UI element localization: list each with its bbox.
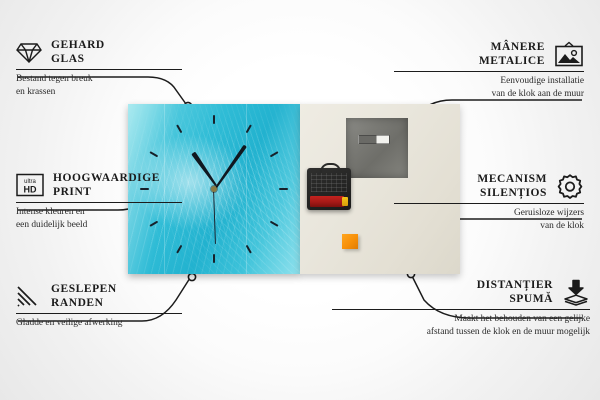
clock-tick	[270, 221, 279, 227]
clock-tick	[149, 151, 158, 157]
callout-title: MÂNERE METALICE	[479, 40, 545, 68]
clock-tick	[270, 151, 279, 157]
callout-rule	[16, 69, 182, 70]
callout-rule	[394, 203, 584, 204]
battery	[310, 196, 344, 207]
callout-gehard-glas: GEHARD GLAS Bestand tegen breuk en krass…	[16, 38, 184, 98]
callout-subtitle: Eenvoudige installatie van de klok aan d…	[394, 75, 584, 100]
callout-rule	[16, 202, 182, 203]
callout-title: MECANISM SILENȚIOS	[477, 172, 547, 200]
clock-tick	[246, 124, 252, 133]
clock-tick	[279, 188, 288, 190]
clock-mechanism	[307, 168, 351, 210]
callout-geslepen-randen: GESLEPEN RANDEN Gladde en veilige afwerk…	[16, 282, 184, 330]
gear-icon	[556, 173, 584, 200]
callout-manere-metalice: MÂNERE METALICE Eenvoudige installatie v…	[394, 40, 584, 100]
callout-header: GEHARD GLAS	[16, 38, 184, 66]
clock-tick	[246, 245, 252, 254]
clock-center-cap	[211, 186, 217, 192]
callout-subtitle: Gladde en veilige afwerking	[16, 317, 184, 330]
clock-tick	[213, 115, 215, 124]
diamond-icon	[16, 40, 42, 64]
endpoint-geslepen-randen	[188, 273, 195, 280]
foam-spacer-icon	[562, 279, 590, 306]
callout-distantier-spuma: DISTANȚIER SPUMĂ Maakt het behouden van …	[332, 278, 590, 338]
clock-tick	[176, 124, 182, 133]
callout-header: ultra HD HOOGWAARDIGE PRINT	[16, 171, 184, 199]
callout-rule	[332, 309, 590, 310]
callout-header: MECANISM SILENȚIOS	[394, 172, 584, 200]
callout-subtitle: Bestand tegen breuk en krassen	[16, 73, 184, 98]
callout-title: GESLEPEN RANDEN	[51, 282, 117, 310]
picture-frame-hanger-icon	[554, 41, 584, 67]
foam-spacer	[342, 234, 358, 249]
mechanism-grid	[311, 173, 347, 192]
callout-rule	[16, 313, 182, 314]
callout-title: HOOGWAARDIGE PRINT	[53, 171, 160, 199]
infographic-canvas: GEHARD GLAS Bestand tegen breuk en krass…	[0, 0, 600, 400]
callout-rule	[394, 71, 584, 72]
callout-header: DISTANȚIER SPUMĂ	[332, 278, 590, 306]
callout-hoogwaardige-print: ultra HD HOOGWAARDIGE PRINT Intense kleu…	[16, 171, 184, 231]
hd-label: HD	[24, 185, 37, 195]
callout-mecanism-silentios: MECANISM SILENȚIOS Geruisloze wijzers va…	[394, 172, 584, 232]
callout-subtitle: Intense kleuren en een duidelijk beeld	[16, 206, 184, 231]
callout-title: DISTANȚIER SPUMĂ	[477, 278, 553, 306]
clock-tick	[176, 245, 182, 254]
ultra-hd-icon: ultra HD	[16, 173, 44, 197]
callout-title: GEHARD GLAS	[51, 38, 105, 66]
clock-tick	[213, 254, 215, 263]
callout-subtitle: Geruisloze wijzers van de klok	[394, 207, 584, 232]
callout-subtitle: Maakt het behouden van een gelijke afsta…	[332, 313, 590, 338]
callout-header: MÂNERE METALICE	[394, 40, 584, 68]
callout-header: GESLEPEN RANDEN	[16, 282, 184, 310]
metal-hanger-plate	[346, 118, 408, 178]
beveled-edge-icon	[16, 284, 42, 308]
